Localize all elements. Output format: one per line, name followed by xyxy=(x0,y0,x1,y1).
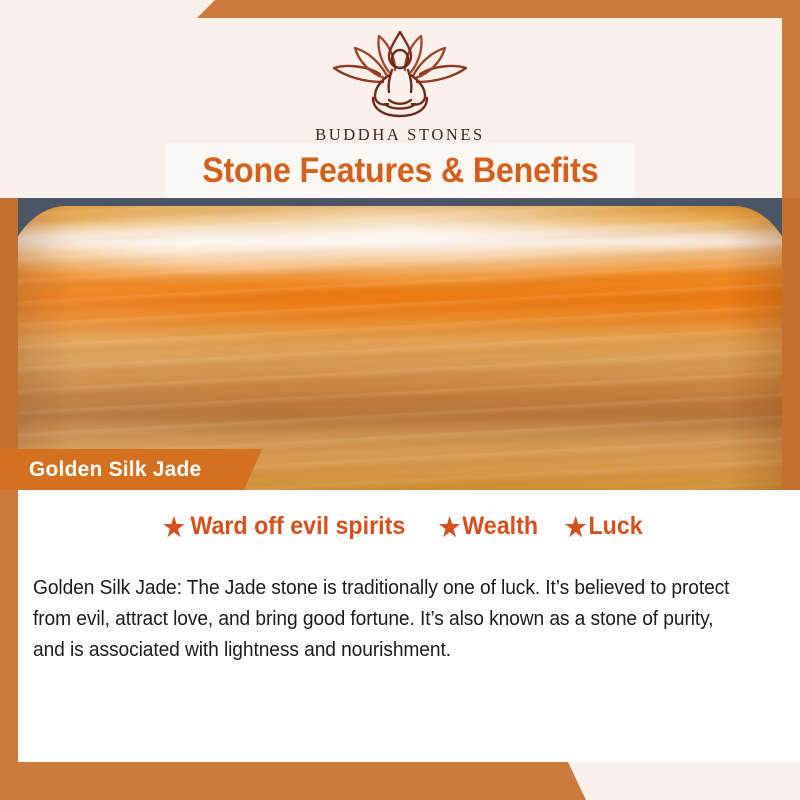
hero-right-accent-strip xyxy=(782,198,800,490)
stone-name-ribbon: Golden Silk Jade xyxy=(0,449,262,490)
content-right-spacer xyxy=(782,490,800,762)
star-icon: ★ xyxy=(439,514,461,540)
content-left-accent-strip xyxy=(0,490,18,762)
benefit-label-2: Luck xyxy=(589,512,643,540)
title-banner: Stone Features & Benefits xyxy=(165,143,635,198)
stone-name-label: Golden Silk Jade xyxy=(0,458,201,482)
stone-highlight xyxy=(18,206,782,490)
star-icon: ★ xyxy=(565,514,587,540)
benefit-item-0: ★Ward off evil spirits xyxy=(163,512,405,541)
page-title: Stone Features & Benefits xyxy=(202,151,598,191)
benefits-row: ★Ward off evil spirits ★Wealth ★Luck xyxy=(18,512,782,541)
benefit-item-1: ★Wealth xyxy=(439,512,538,541)
brand-name: BUDDHA STONES xyxy=(0,125,800,145)
brand-logo: BUDDHA STONES xyxy=(0,26,800,145)
stone-slab xyxy=(18,206,782,490)
benefit-label-0: Ward off evil spirits xyxy=(190,512,405,540)
stone-photo xyxy=(18,198,782,490)
hero-left-accent-strip xyxy=(0,198,18,490)
stone-info-poster: BUDDHA STONES Stone Features & Benefits … xyxy=(0,0,800,800)
stone-description: Golden Silk Jade: The Jade stone is trad… xyxy=(33,573,740,666)
lotus-meditation-icon xyxy=(315,26,485,122)
benefit-label-1: Wealth xyxy=(462,512,538,540)
content-panel: ★Ward off evil spirits ★Wealth ★Luck Gol… xyxy=(18,490,782,762)
benefit-item-2: ★Luck xyxy=(565,512,643,541)
star-icon: ★ xyxy=(163,514,185,540)
